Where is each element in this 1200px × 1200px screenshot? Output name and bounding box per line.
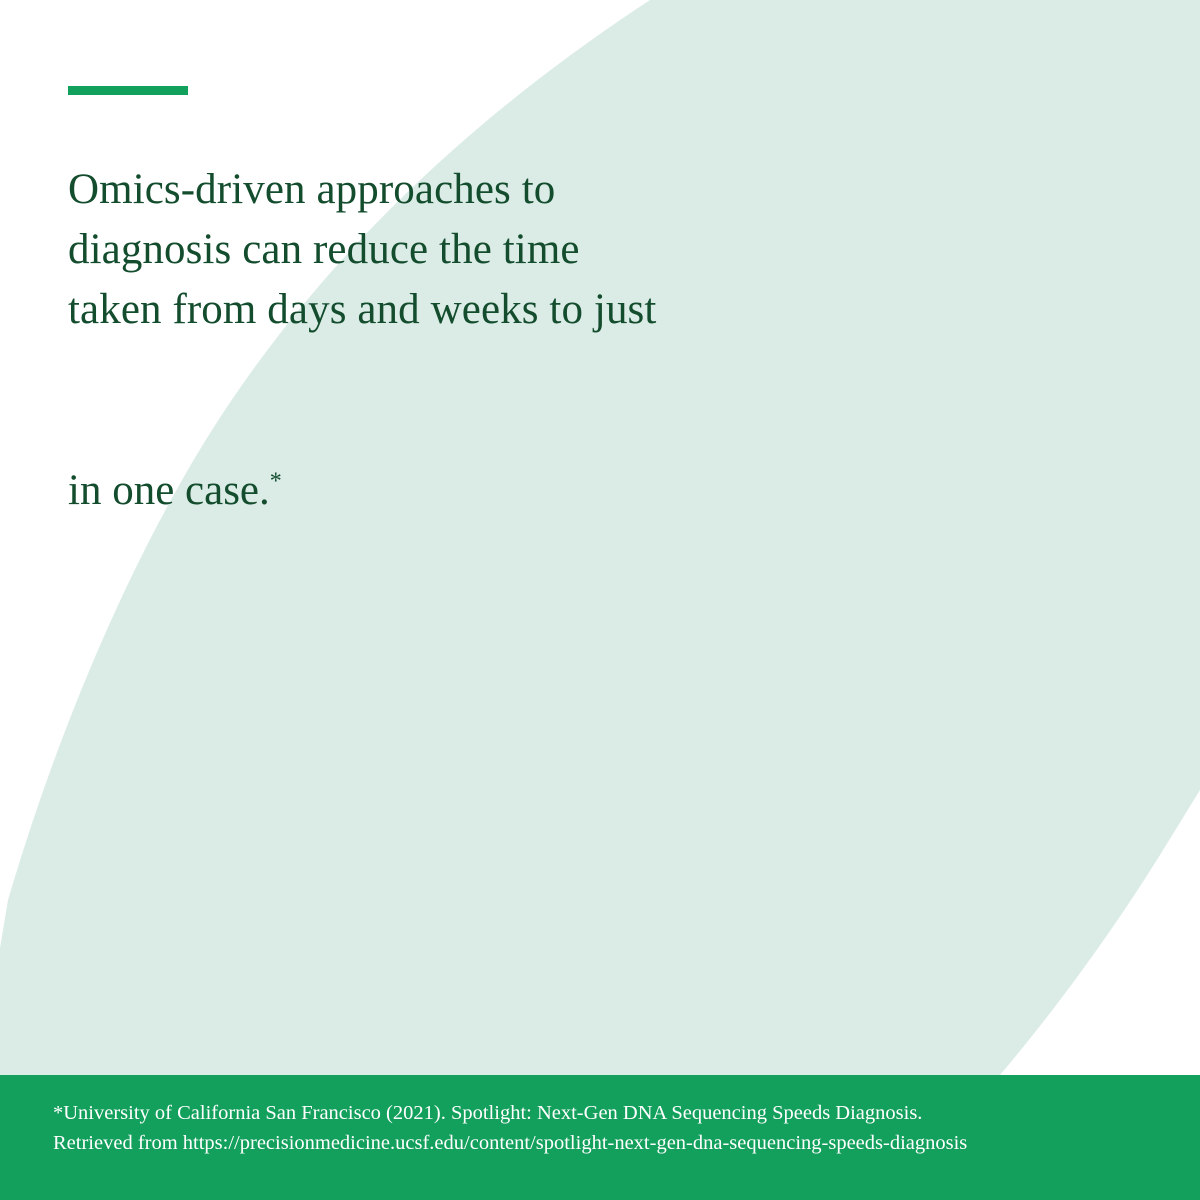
poster-canvas: Omics-driven approaches to diagnosis can… <box>0 0 1200 1200</box>
footnote-marker: * <box>270 469 282 495</box>
headline-line-1: Omics-driven approaches to <box>68 160 1088 220</box>
citation-band: *University of California San Francisco … <box>0 1075 1200 1200</box>
page-title: Omics-driven approaches to diagnosis can… <box>68 160 1088 340</box>
headline-line-3: taken from days and weeks to just <box>68 280 1088 340</box>
citation-line-url[interactable]: Retrieved from https://precisionmedicine… <box>53 1128 1173 1158</box>
headline-tail: in one case.* <box>68 461 282 521</box>
headline-tail-text: in one case. <box>68 467 270 514</box>
accent-rule <box>68 86 188 95</box>
headline-line-2: diagnosis can reduce the time <box>68 220 1088 280</box>
citation-text: *University of California San Francisco … <box>53 1098 1173 1158</box>
citation-line-source: *University of California San Francisco … <box>53 1098 1173 1128</box>
